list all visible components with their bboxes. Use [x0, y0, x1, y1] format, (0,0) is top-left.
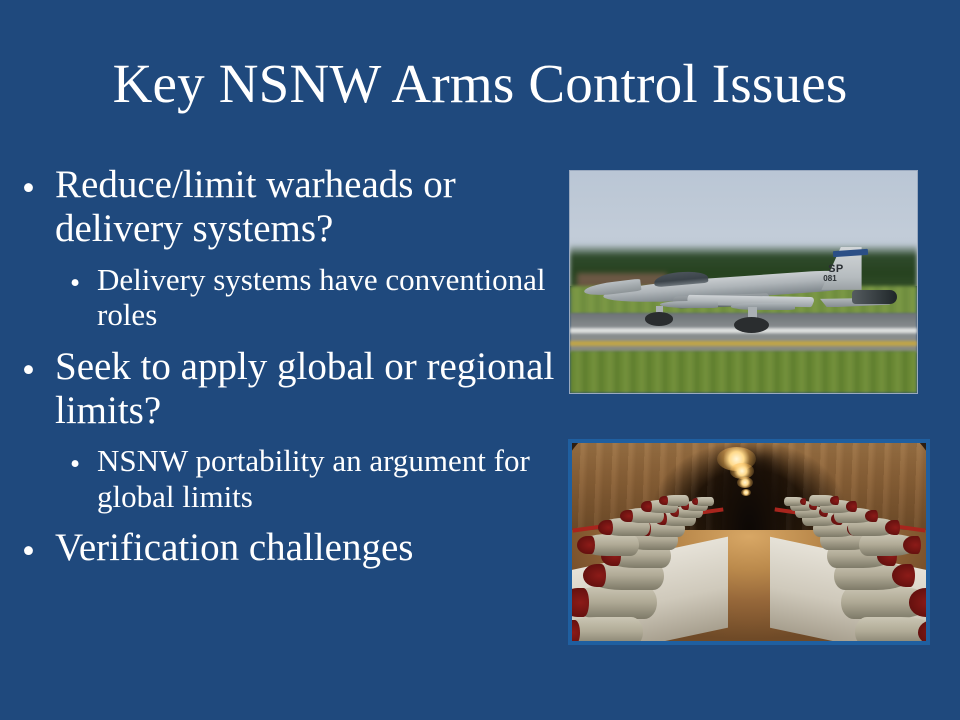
jet-nose-wheel — [645, 312, 674, 326]
jet-external-tank — [731, 303, 795, 310]
stored-bomb — [661, 495, 689, 505]
bullet-item-level1: • Seek to apply global or regional limit… — [22, 345, 562, 434]
presentation-slide: Key NSNW Arms Control Issues • Reduce/li… — [0, 0, 960, 720]
bunker-scene — [572, 443, 926, 641]
stored-bomb — [841, 586, 926, 620]
bullet-text: Reduce/limit warheads or delivery system… — [55, 163, 562, 252]
stored-bomb — [855, 617, 926, 641]
stored-bomb — [784, 497, 805, 505]
jet-tail-stripe — [833, 249, 868, 257]
bullet-item-level1: • Verification challenges — [22, 526, 562, 570]
spacer — [22, 516, 562, 526]
runway-yellow-line — [570, 341, 917, 346]
bullet-text: Seek to apply global or regional limits? — [55, 345, 562, 434]
bullet-text: NSNW portability an argument for global … — [97, 443, 562, 514]
jet-engine-exhaust — [852, 290, 897, 304]
bullet-text: Delivery systems have conventional roles — [97, 262, 562, 333]
spacer — [22, 435, 562, 443]
bullet-marker-icon: • — [70, 443, 97, 479]
f16-fighter-jet-image: SP 081 — [569, 170, 918, 394]
jet-tail-number-text: 081 — [823, 275, 836, 283]
bullet-text: Verification challenges — [55, 526, 562, 570]
underground-bunker-image — [568, 439, 930, 645]
stored-bomb — [809, 495, 837, 505]
stored-bomb — [572, 586, 657, 620]
bullet-marker-icon: • — [22, 163, 55, 207]
spacer — [22, 254, 562, 262]
bullet-item-level1: • Reduce/limit warheads or delivery syst… — [22, 163, 562, 252]
fighter-jet-icon: SP 081 — [584, 253, 903, 333]
stored-bomb — [579, 534, 639, 556]
slide-title: Key NSNW Arms Control Issues — [40, 55, 920, 113]
grass-near — [570, 351, 917, 393]
bullet-item-level2: • Delivery systems have conventional rol… — [22, 262, 562, 333]
jet-external-tank — [660, 301, 717, 308]
stored-bomb — [692, 497, 713, 505]
ceiling-light-icon — [737, 477, 753, 488]
jet-main-wheel — [734, 317, 769, 333]
stored-bomb — [859, 534, 919, 556]
spacer — [22, 335, 562, 345]
bullet-marker-icon: • — [22, 526, 55, 570]
ceiling-light-icon — [741, 489, 752, 496]
bullet-marker-icon: • — [70, 262, 97, 298]
stored-bomb — [572, 617, 643, 641]
jet-scene: SP 081 — [570, 171, 917, 393]
slide-body-content: • Reduce/limit warheads or delivery syst… — [22, 163, 562, 573]
bullet-item-level2: • NSNW portability an argument for globa… — [22, 443, 562, 514]
bullet-marker-icon: • — [22, 345, 55, 389]
